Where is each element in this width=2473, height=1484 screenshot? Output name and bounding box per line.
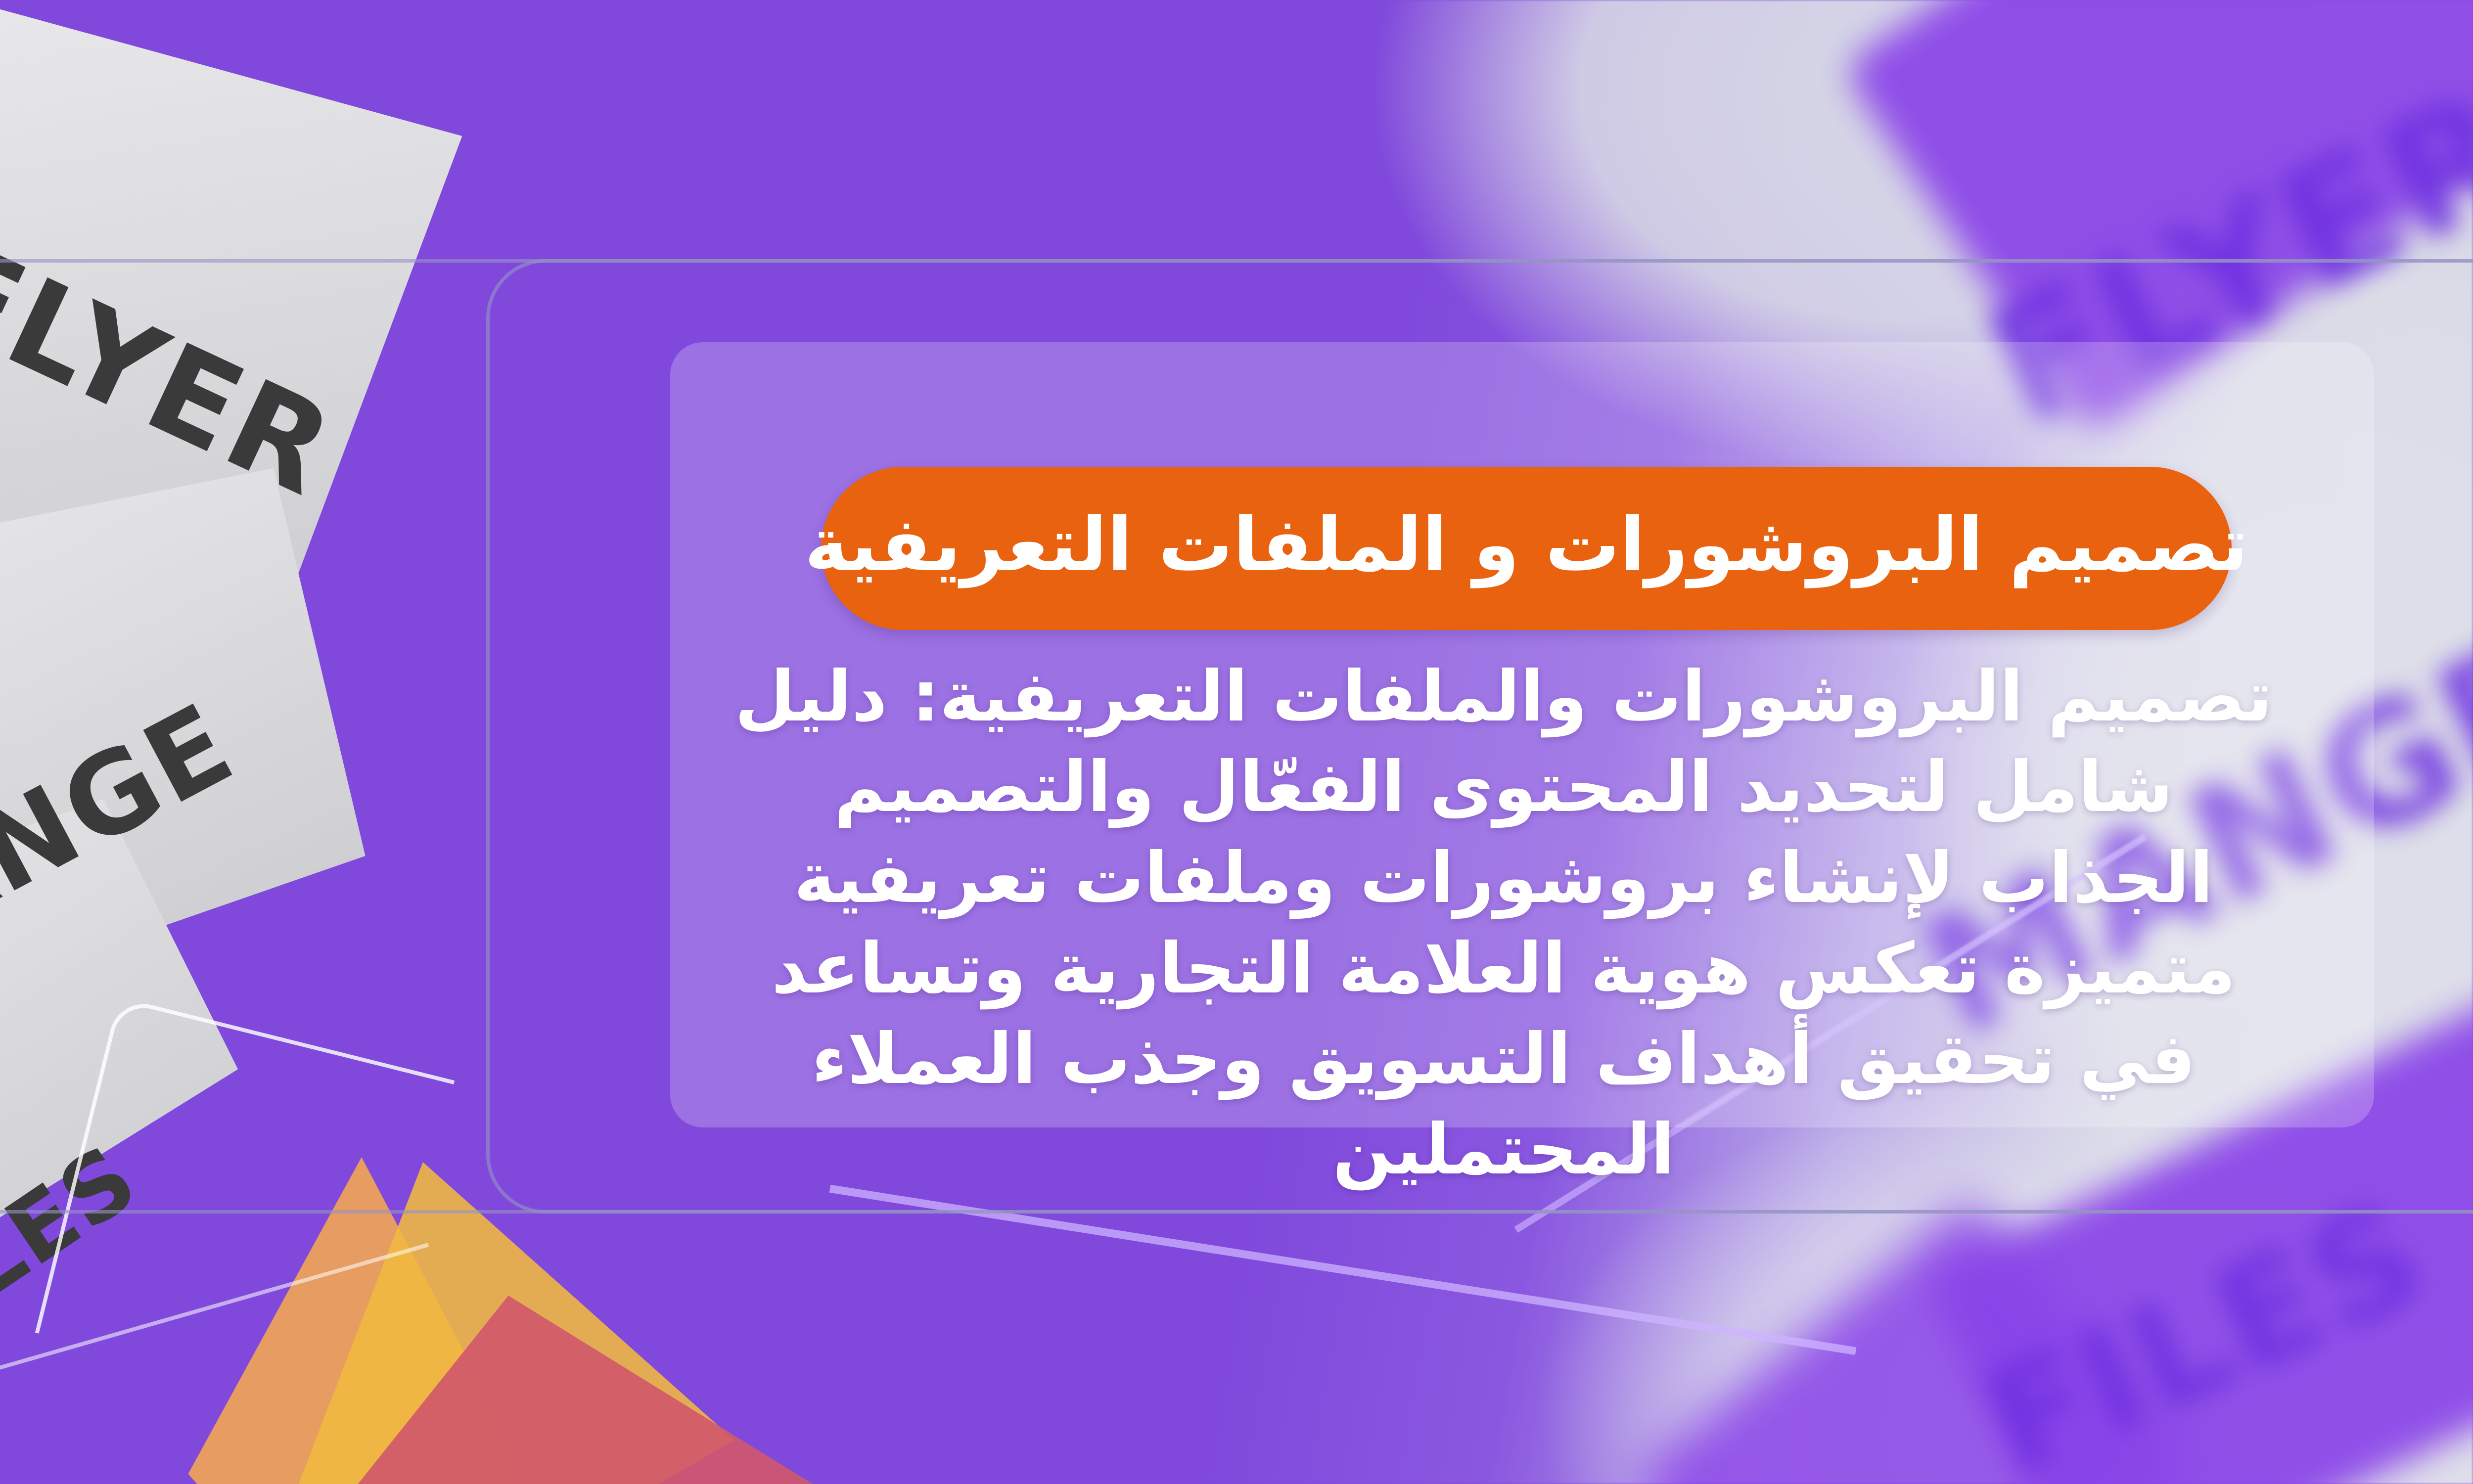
page-title: تصميم البروشورات و الملفات التعريفية	[804, 508, 2248, 589]
frame-rule-top	[0, 259, 2473, 263]
body-paragraph: تصميم البروشورات والملفات التعريفية: دلي…	[705, 652, 2302, 1196]
title-badge: تصميم البروشورات و الملفات التعريفية	[821, 467, 2232, 630]
slide-canvas: FLYER MANGE FILES FLYER MANGE FILES تصمي…	[0, 0, 2473, 1484]
frame-rule-bottom	[0, 1210, 2473, 1214]
